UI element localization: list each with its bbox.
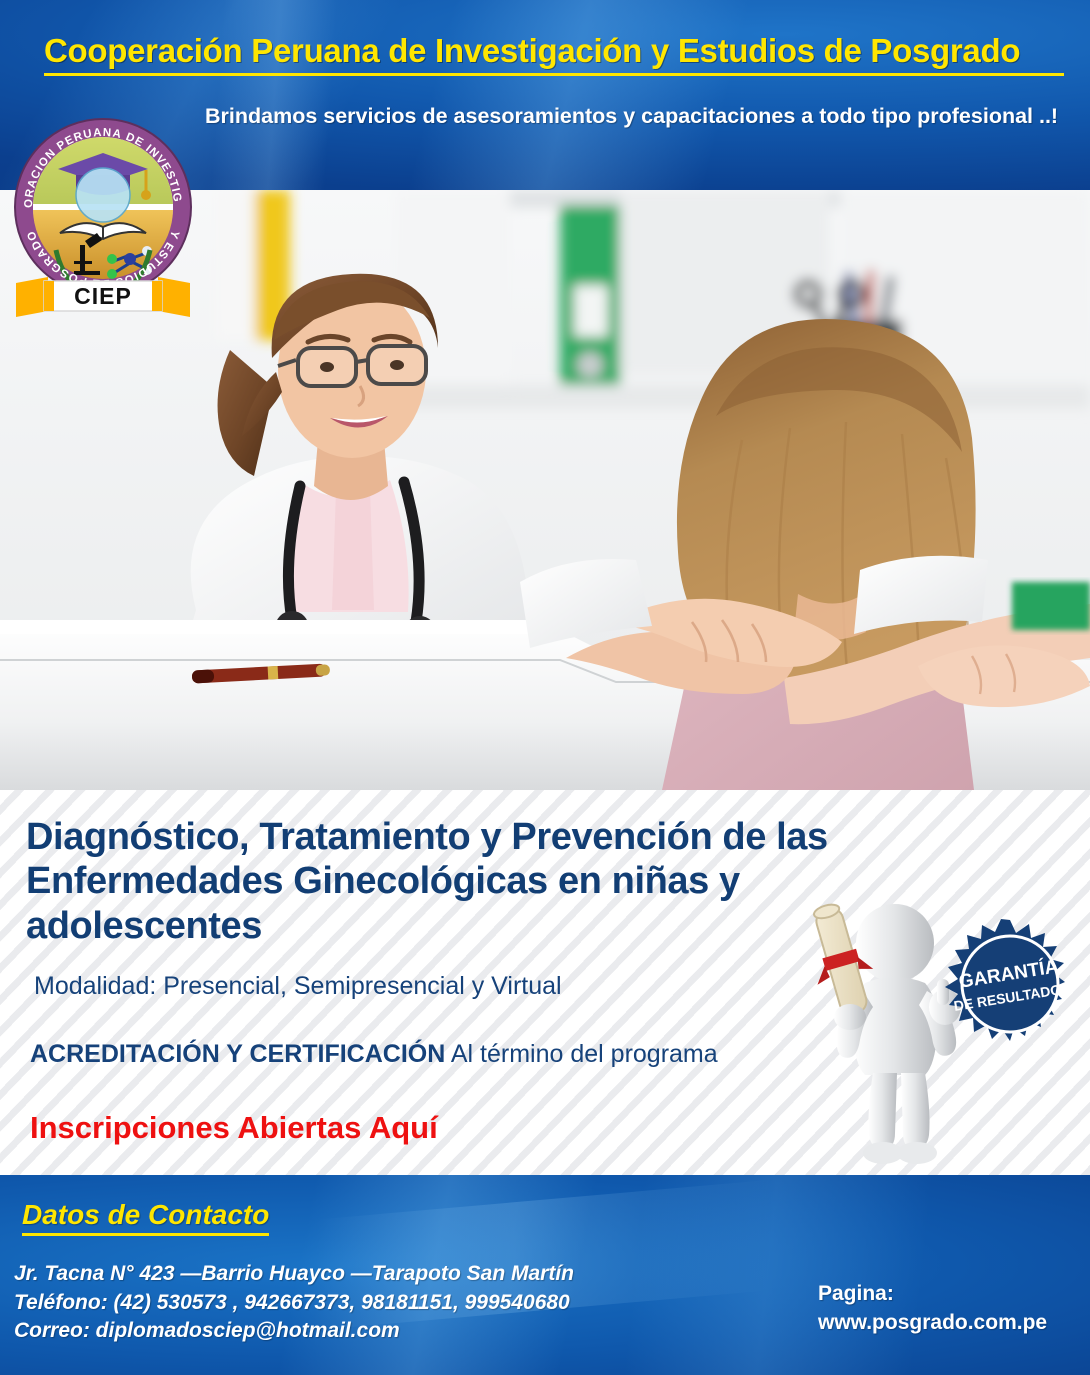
page-title: Cooperación Peruana de Investigación y E… [44,32,1064,76]
website-url[interactable]: www.posgrado.com.pe [818,1309,1078,1338]
modalidad-text: Modalidad: Presencial, Semipresencial y … [34,972,854,1001]
inscripciones-cta[interactable]: Inscripciones Abiertas Aquí [30,1110,730,1146]
contact-phone[interactable]: Teléfono: (42) 530573 , 942667373, 98181… [14,1289,714,1318]
website-block: Pagina: www.posgrado.com.pe [818,1280,1078,1338]
svg-text:CIEP: CIEP [74,283,132,309]
contact-email[interactable]: Correo: diplomadosciep@hotmail.com [14,1317,714,1346]
contact-details: Jr. Tacna N° 423 —Barrio Huayco —Tarapot… [14,1260,714,1346]
contact-footer: Datos de Contacto Jr. Tacna N° 423 —Barr… [0,1175,1090,1375]
contact-heading: Datos de Contacto [22,1199,269,1236]
contact-address: Jr. Tacna N° 423 —Barrio Huayco —Tarapot… [14,1260,714,1289]
course-title: Diagnóstico, Tratamiento y Prevención de… [26,815,906,948]
guarantee-badge: GARANTÍA DE RESULTADOS [940,918,1080,1058]
header-subtitle: Brindamos servicios de asesoramientos y … [205,103,1070,130]
acreditacion-text: Al término del programa [451,1040,718,1068]
website-label: Pagina: [818,1280,1078,1309]
acreditacion-block: ACREDITACIÓN Y CERTIFICACIÓN Al término … [30,1038,790,1070]
course-info-section: Diagnóstico, Tratamiento y Prevención de… [0,790,1090,1175]
poster-root: Cooperación Peruana de Investigación y E… [0,0,1090,1375]
ciep-logo: CORPORACION PERUANA DE INVESTIGACION Y E… [8,85,198,320]
acreditacion-label: ACREDITACIÓN Y CERTIFICACIÓN [30,1040,445,1068]
